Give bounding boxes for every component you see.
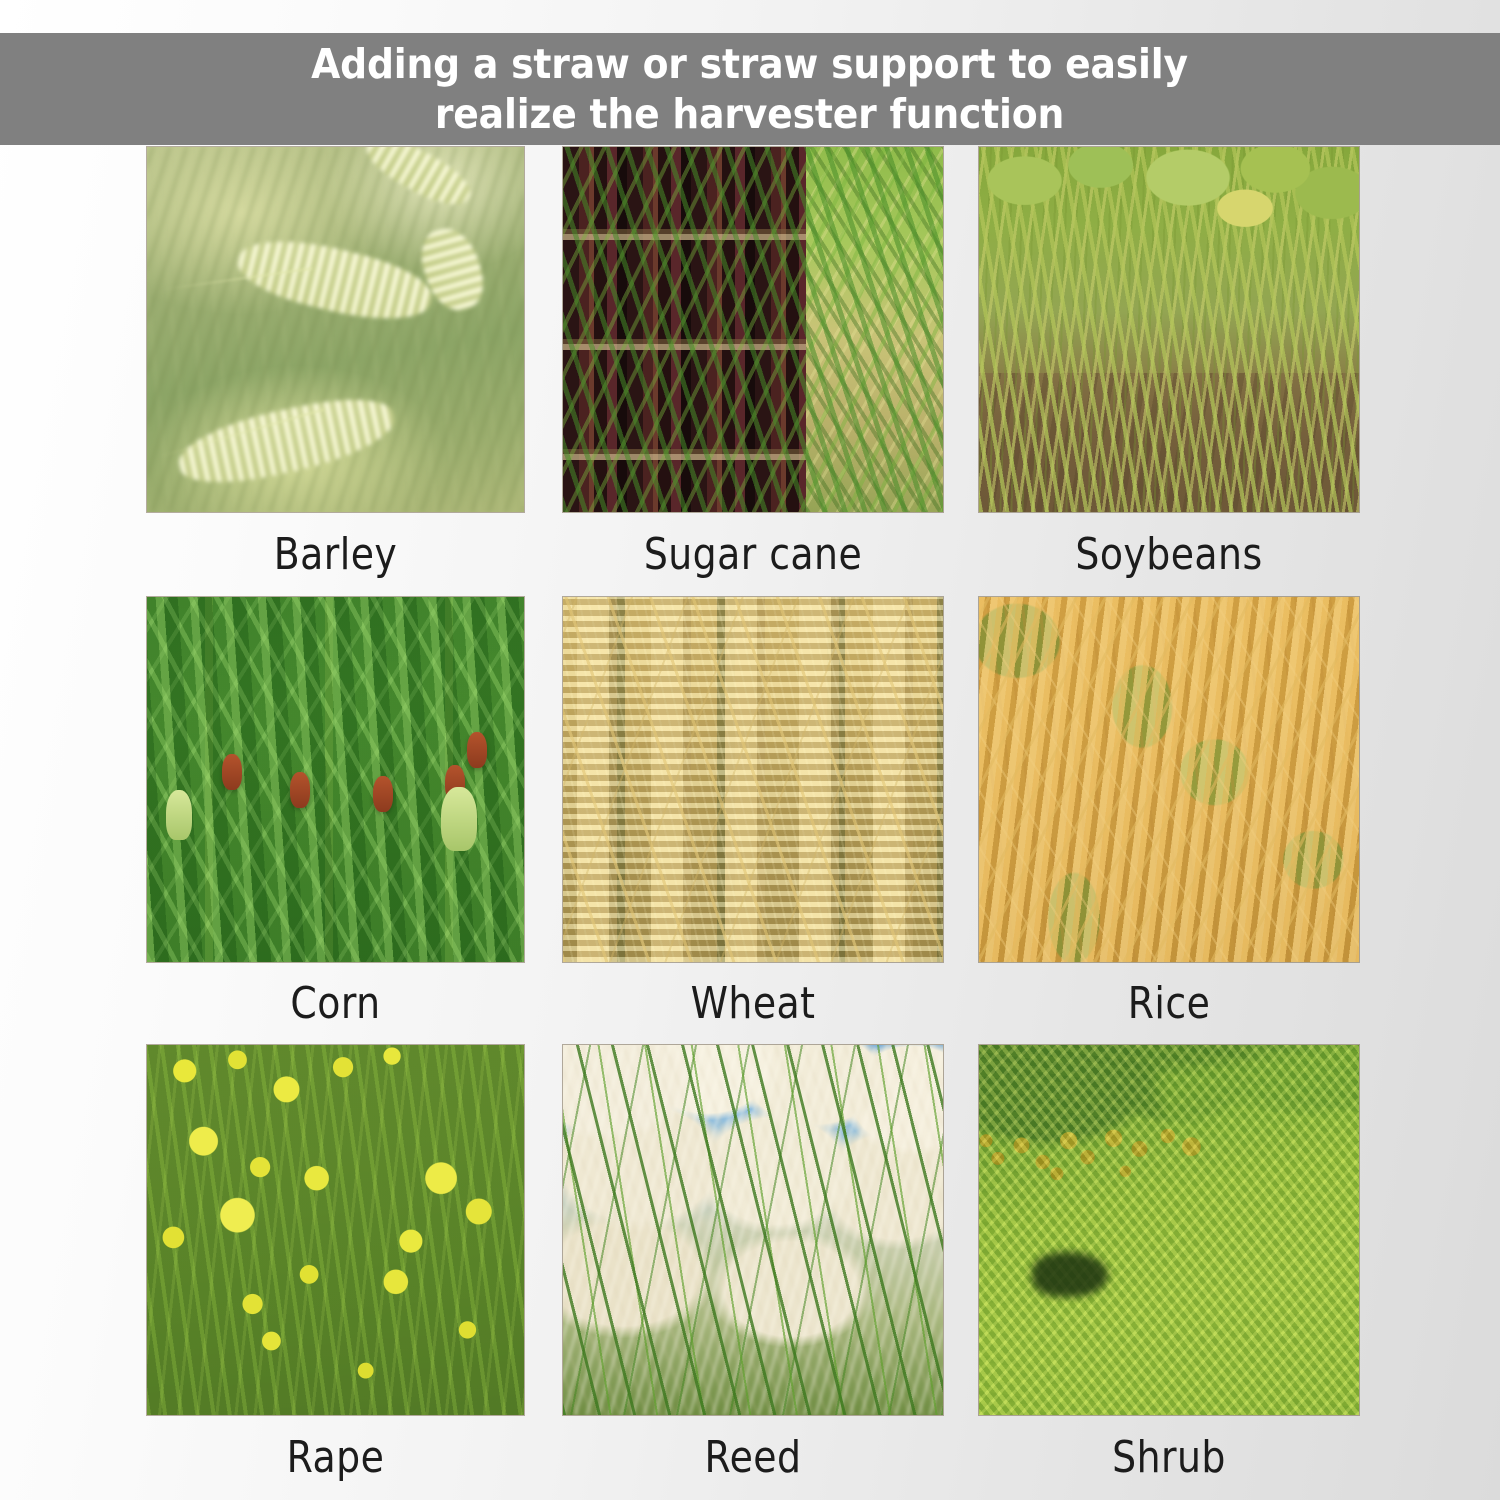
grid-gap <box>524 1045 563 1415</box>
grid-label-cell: Soybeans <box>979 512 1359 597</box>
corn-cob <box>441 787 477 851</box>
corn-cob <box>166 790 192 840</box>
crop-label-rape: Rape <box>173 1415 497 1500</box>
rice-stem-arcs <box>979 597 1359 962</box>
corn-silk <box>222 754 242 790</box>
grid-label-cell: Barley <box>147 512 524 597</box>
grid-gap <box>524 597 563 962</box>
grid-label-cell: Shrub <box>979 1415 1359 1500</box>
crop-image-corn <box>147 597 524 962</box>
grid-cell-reed <box>563 1045 943 1415</box>
grid-label-cell: Sugar cane <box>563 512 943 597</box>
grid-cell-soybeans <box>979 147 1359 512</box>
banner-title: Adding a straw or straw support to easil… <box>312 39 1189 139</box>
corn-leaves <box>147 597 524 962</box>
corn-silk <box>467 732 487 768</box>
grid-gap <box>524 512 563 597</box>
crop-label-soybeans: Soybeans <box>1006 512 1333 597</box>
grid-cell-rice <box>979 597 1359 962</box>
grid-cell-corn <box>147 597 524 962</box>
grid-cell-shrub <box>979 1045 1359 1415</box>
grid-gap <box>943 962 979 1045</box>
crop-image-sugar-cane <box>563 147 943 512</box>
grid-gap <box>943 147 979 512</box>
grid-gap <box>524 1415 563 1500</box>
grid-cell-sugar-cane <box>563 147 943 512</box>
grid-cell-rape <box>147 1045 524 1415</box>
grid-gap <box>943 1415 979 1500</box>
grid-label-cell: Wheat <box>563 962 943 1045</box>
crop-label-corn: Corn <box>173 962 497 1045</box>
grid-cell-barley <box>147 147 524 512</box>
grid-gap <box>943 512 979 597</box>
grid-label-cell: Corn <box>147 962 524 1045</box>
reed-stems <box>563 1045 943 1415</box>
crop-label-barley: Barley <box>173 512 497 597</box>
corn-silk <box>290 772 310 808</box>
crop-image-rice <box>979 597 1359 962</box>
cane-leaves <box>563 147 943 512</box>
crop-image-wheat <box>563 597 943 962</box>
grid-cell-wheat <box>563 597 943 962</box>
crop-image-reed <box>563 1045 943 1415</box>
grid-label-cell: Reed <box>563 1415 943 1500</box>
crop-grid: Barley Sugar cane Soybeans <box>147 147 1355 1500</box>
shrub-leaf-texture <box>979 1045 1359 1415</box>
wheat-straw <box>563 597 943 962</box>
crop-label-sugar-cane: Sugar cane <box>590 512 917 597</box>
crop-image-shrub <box>979 1045 1359 1415</box>
crop-label-shrub: Shrub <box>1006 1415 1333 1500</box>
rape-flowers <box>147 1045 524 1415</box>
grid-gap <box>524 147 563 512</box>
soy-leaves <box>979 147 1359 300</box>
corn-silk <box>373 776 393 812</box>
grid-gap <box>524 962 563 1045</box>
crop-label-rice: Rice <box>1006 962 1333 1045</box>
crop-image-barley <box>147 147 524 512</box>
grid-label-cell: Rape <box>147 1415 524 1500</box>
feature-banner: Adding a straw or straw support to easil… <box>0 33 1500 145</box>
grid-gap <box>943 1045 979 1415</box>
crop-image-soybeans <box>979 147 1359 512</box>
product-feature-image: Adding a straw or straw support to easil… <box>0 0 1500 1500</box>
grid-label-cell: Rice <box>979 962 1359 1045</box>
shrub-shadow <box>1032 1252 1108 1296</box>
crop-label-wheat: Wheat <box>590 962 917 1045</box>
grid-gap <box>943 597 979 962</box>
crop-image-rape <box>147 1045 524 1415</box>
crop-label-reed: Reed <box>590 1415 917 1500</box>
